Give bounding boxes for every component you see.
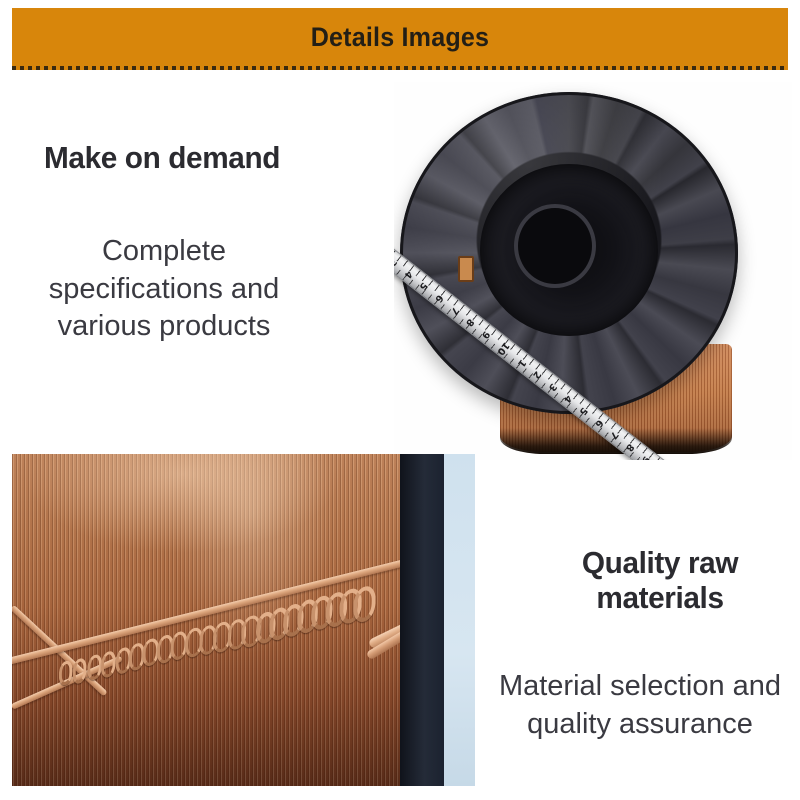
quality-raw-materials-body: Material selection and quality assurance bbox=[492, 668, 788, 743]
spool-center-hub bbox=[480, 164, 658, 336]
photo-dark-edge-band bbox=[400, 454, 444, 786]
tape-measure-number: 5 bbox=[576, 404, 590, 417]
copper-coil-loop bbox=[101, 650, 117, 679]
details-images-page: Details Images Make on demand Complete s… bbox=[0, 0, 800, 800]
tape-measure-number: 8 bbox=[463, 316, 477, 329]
details-images-banner: Details Images bbox=[12, 8, 788, 70]
tape-measure-number: 7 bbox=[447, 304, 461, 317]
tape-measure-number: 7 bbox=[607, 429, 621, 442]
tape-measure-number: 4 bbox=[561, 392, 575, 405]
quality-body-line-2: quality assurance bbox=[492, 706, 788, 744]
tape-measure-number: 4 bbox=[401, 267, 415, 280]
make-on-demand-body: Complete specifications and various prod… bbox=[28, 233, 300, 346]
quality-raw-materials-heading: Quality raw materials bbox=[545, 546, 775, 615]
welding-wire-spool-photo: 345678910123456789101234567891012 bbox=[394, 82, 792, 460]
tape-measure-number: 5 bbox=[416, 280, 430, 293]
quality-body-line-1: Material selection and bbox=[492, 668, 788, 706]
tape-measure-number: 6 bbox=[432, 292, 446, 305]
tape-measure-number: 8 bbox=[622, 441, 636, 454]
quality-heading-line-2: materials bbox=[545, 581, 775, 616]
tape-measure-number: 1 bbox=[514, 356, 528, 369]
spool-photo-backdrop: 345678910123456789101234567891012 bbox=[394, 82, 792, 460]
tape-measure-number: 3 bbox=[545, 380, 559, 393]
tape-measure-number: 6 bbox=[591, 417, 605, 430]
copper-coil-loop bbox=[73, 656, 88, 684]
make-on-demand-body-line-3: various products bbox=[28, 308, 300, 346]
twisted-copper-wire-photo bbox=[12, 454, 475, 786]
banner-dashed-divider bbox=[12, 66, 788, 70]
tape-measure-number: 2 bbox=[530, 368, 544, 381]
make-on-demand-body-line-1: Complete bbox=[28, 233, 300, 271]
copper-coil-loop bbox=[87, 653, 102, 682]
tape-measure-number: 9 bbox=[478, 328, 492, 341]
quality-heading-line-1: Quality raw bbox=[545, 546, 775, 581]
copper-coil-loop bbox=[58, 659, 72, 686]
spool-wire-end-clip bbox=[458, 256, 474, 282]
make-on-demand-body-line-2: specifications and bbox=[28, 271, 300, 309]
page-title: Details Images bbox=[311, 24, 489, 54]
photo-light-blue-band bbox=[444, 454, 475, 786]
make-on-demand-heading: Make on demand bbox=[44, 141, 351, 176]
